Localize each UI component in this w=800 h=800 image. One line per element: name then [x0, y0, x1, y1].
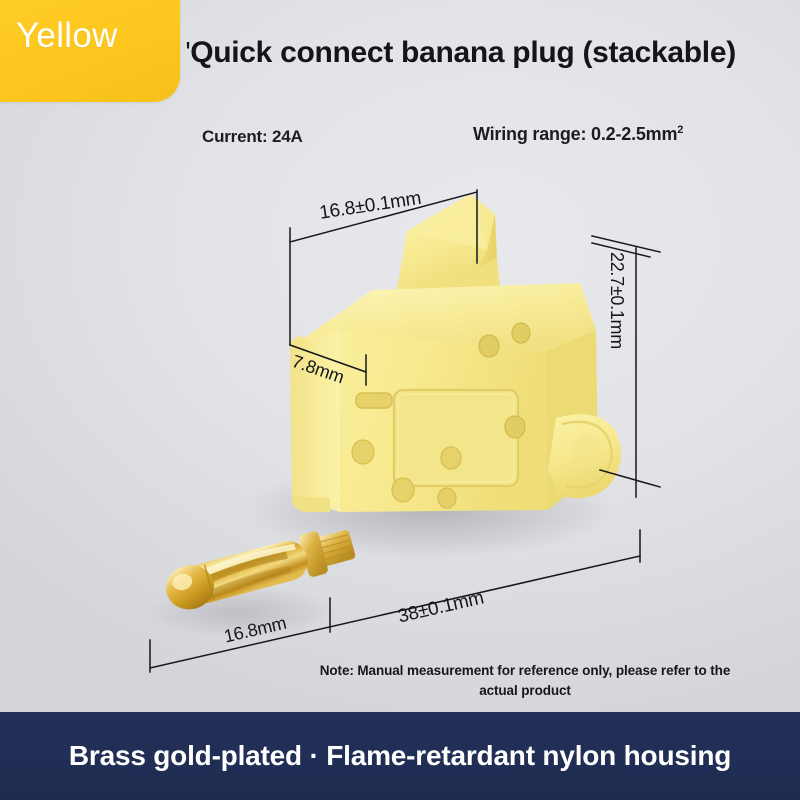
product-shadow: [245, 462, 615, 558]
pin-tip: [161, 560, 219, 615]
dimension-label-depth: 7.8mm: [289, 351, 346, 388]
front-hole-3: [352, 440, 374, 464]
banana-pin: [161, 522, 358, 614]
title-tick-mark: ': [186, 36, 190, 67]
pin-slot-lower: [207, 565, 292, 599]
lever-hinge: [430, 286, 520, 334]
lever-underside: [396, 258, 500, 318]
dimension-label-height: 22.7±0.1mm: [606, 252, 627, 349]
lever-side-face: [470, 194, 497, 268]
dimension-label-total-length: 38±0.1mm: [396, 587, 486, 628]
housing-corner-tl: [290, 336, 310, 348]
pin-highlight: [193, 542, 297, 580]
front-hole-4: [505, 416, 525, 438]
front-hole-6: [392, 478, 414, 502]
pin-seam: [205, 565, 215, 601]
front-hole-1: [479, 335, 499, 357]
dimension-lines: [150, 190, 660, 672]
dim-line-bottom: [150, 556, 640, 668]
pin-tip-highlight: [171, 572, 194, 593]
pin-thread-lines: [319, 535, 353, 560]
measurement-note-line-2: product: [521, 683, 571, 698]
dimension-label-top-width: 16.8±0.1mm: [318, 188, 423, 225]
housing-corner-bl: [292, 496, 330, 512]
pin-body: [182, 537, 312, 608]
measurement-note: Note: Manual measurement for reference o…: [300, 661, 750, 700]
spec-wiring-range-text: Wiring range: 0.2-2.5mm: [473, 124, 677, 144]
housing-front-face: [340, 330, 548, 512]
pin-slot-upper: [203, 549, 289, 584]
spec-wiring-range: Wiring range: 0.2-2.5mm2: [473, 124, 683, 145]
pin-threaded-shaft: [316, 529, 357, 567]
footer-material-text: Brass gold-plated · Flame-retardant nylo…: [69, 740, 731, 772]
stacking-port-groove: [562, 422, 612, 488]
dimension-label-pin-length: 16.8mm: [222, 613, 288, 648]
title-row: ' Quick connect banana plug (stackable): [185, 36, 736, 70]
page-title: Quick connect banana plug (stackable): [190, 36, 736, 70]
front-recessed-panel: [394, 390, 518, 486]
housing-right-face: [545, 330, 598, 510]
product-spec-image: Yellow ' Quick connect banana plug (stac…: [0, 0, 800, 800]
color-badge-label: Yellow: [0, 0, 180, 102]
color-badge: Yellow: [0, 0, 180, 102]
stacking-port-face: [572, 433, 600, 471]
spec-wiring-range-unit-exponent: 2: [677, 124, 683, 136]
tick-height-top: [592, 236, 660, 252]
front-recessed-panel-highlight: [398, 394, 514, 482]
tick-height-bottom: [600, 470, 660, 487]
front-slot-hole: [356, 393, 392, 408]
pin-collar: [298, 530, 329, 578]
housing-top-face: [290, 283, 596, 352]
stacking-port: [548, 414, 621, 498]
front-hole-2: [512, 323, 530, 343]
front-hole-7: [438, 488, 456, 508]
footer-bar: Brass gold-plated · Flame-retardant nylo…: [0, 712, 800, 800]
front-hole-5: [441, 447, 461, 469]
spec-current: Current: 24A: [202, 127, 303, 147]
